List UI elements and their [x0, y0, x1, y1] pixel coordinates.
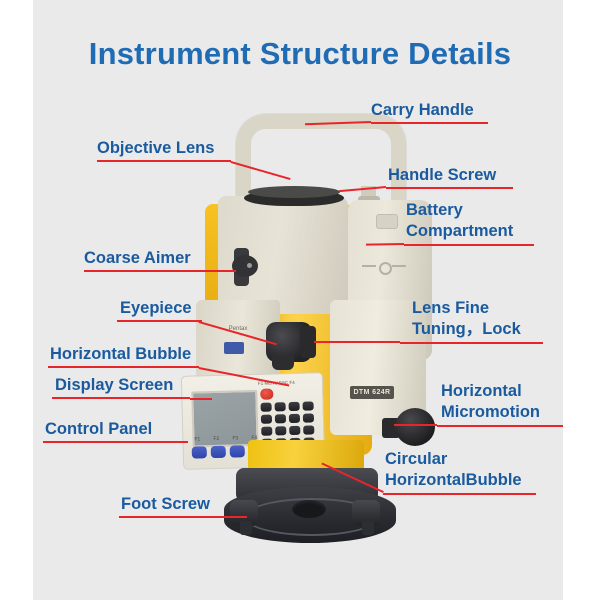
foot-screw-stem [362, 521, 374, 535]
keypad-button[interactable] [261, 403, 272, 412]
callout-control-panel: Control Panel [45, 419, 152, 439]
callout-horizontal-bubble: Horizontal Bubble [50, 344, 191, 364]
callout-horizontal-bubble-underline [48, 366, 199, 368]
vertical-axis-ring-inner [248, 186, 340, 198]
callout-foot-screw-underline [119, 516, 231, 518]
keypad-button[interactable] [275, 402, 286, 411]
coarse-aimer-dot [247, 263, 252, 268]
callout-control-panel-underline [43, 441, 188, 443]
keypad-button[interactable] [275, 426, 286, 435]
callout-circular-underline [383, 493, 536, 495]
function-key-f2[interactable] [211, 446, 226, 458]
callout-horizontal-micro-line2: Micromotion [441, 403, 540, 421]
keypad-button[interactable] [289, 402, 300, 411]
callout-battery-line2: Compartment [406, 222, 513, 240]
lens-fine-tuning-knob [272, 356, 294, 370]
callout-handle-screw-underline [386, 187, 513, 189]
keypad-button[interactable] [303, 401, 314, 410]
callout-horizontal-micromotion: Horizontal Micromotion [441, 381, 540, 423]
callout-battery-line1: Battery [406, 201, 463, 219]
brand-tag [224, 342, 244, 354]
callout-carry-handle: Carry Handle [371, 100, 474, 120]
keypad-button[interactable] [261, 427, 272, 436]
callout-display-screen-leader [190, 398, 212, 400]
callout-circular-line2: HorizontalBubble [385, 471, 522, 489]
callout-lens-fine-line2: Tuning，Lock [412, 320, 521, 338]
callout-lens-fine-leader [314, 341, 400, 343]
callout-objective-lens: Objective Lens [97, 138, 214, 158]
callout-display-screen-underline [52, 397, 190, 399]
model-plate: DTM 624R [350, 386, 394, 399]
callout-lens-fine-underline [400, 342, 543, 344]
callout-circular-line1: Circular [385, 450, 447, 468]
horizontal-micromotion-knob [395, 408, 435, 446]
battery-marking [362, 262, 406, 270]
callout-objective-lens-underline [97, 160, 231, 162]
callout-handle-screw: Handle Screw [388, 165, 496, 185]
coarse-aimer-base [232, 255, 258, 277]
foot-screw-stem [240, 521, 252, 535]
fkey-label-f2: F2 [213, 436, 219, 442]
screenshot-root: Instrument Structure Details DTM 624R Pe… [0, 0, 600, 600]
circular-horizontal-bubble [292, 500, 326, 518]
callout-horizontal-micro-line1: Horizontal [441, 382, 522, 400]
fkey-label-f1: F1 [194, 436, 200, 442]
keypad-button[interactable] [289, 414, 300, 423]
callout-horizontal-micro-underline [437, 425, 563, 427]
callout-battery-compartment: Battery Compartment [406, 200, 513, 242]
fkey-label-f3: F3 [232, 435, 238, 441]
keypad-button[interactable] [303, 425, 314, 434]
keypad-button[interactable] [303, 413, 314, 422]
keypad-button[interactable] [289, 426, 300, 435]
callout-lens-fine-tuning: Lens Fine Tuning，Lock [412, 298, 521, 340]
callout-foot-screw: Foot Screw [121, 494, 210, 514]
callout-eyepiece-underline [117, 320, 202, 322]
callout-circular-horizontal-bubble: Circular HorizontalBubble [385, 449, 522, 491]
callout-carry-handle-underline [371, 122, 488, 124]
power-key[interactable] [260, 388, 273, 399]
callout-eyepiece: Eyepiece [120, 298, 192, 318]
function-key-f3[interactable] [230, 445, 245, 457]
callout-display-screen: Display Screen [55, 375, 173, 395]
callout-coarse-aimer-leader [203, 270, 236, 272]
callout-coarse-aimer: Coarse Aimer [84, 248, 191, 268]
keypad-button[interactable] [261, 415, 272, 424]
callout-horizontal-micro-leader [394, 424, 437, 426]
callout-foot-screw-leader [231, 516, 247, 518]
callout-coarse-aimer-underline [84, 270, 203, 272]
keypad-button[interactable] [275, 414, 286, 423]
battery-latch [376, 214, 398, 229]
function-key-f1[interactable] [192, 446, 207, 458]
callout-battery-underline [404, 244, 534, 246]
callout-lens-fine-line1: Lens Fine [412, 299, 489, 317]
